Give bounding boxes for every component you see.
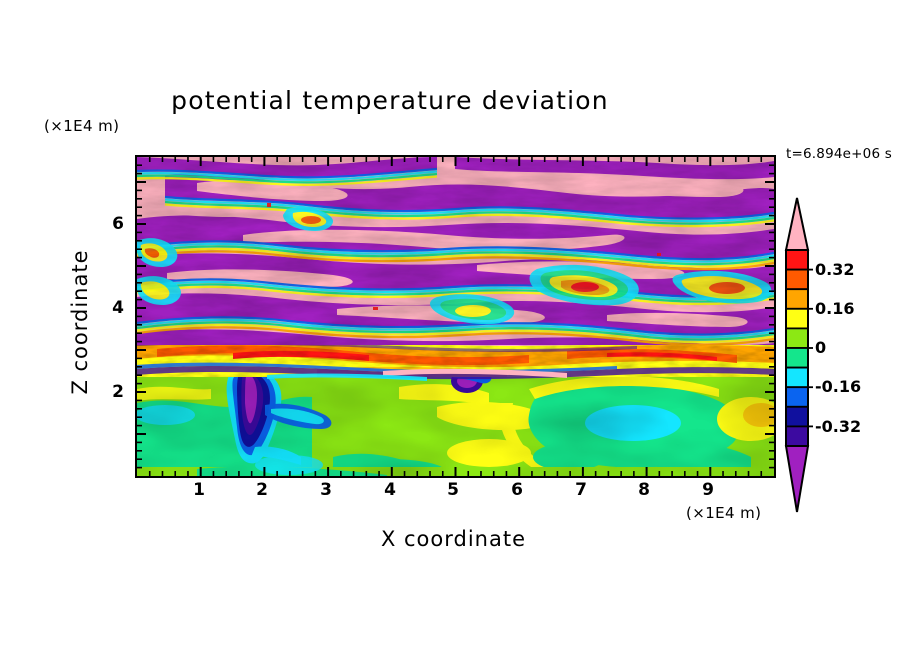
x-tick-label-6: 6: [497, 480, 537, 500]
colorbar-label-0: 0.32: [815, 260, 854, 279]
colorbar-label-2: 0: [815, 338, 826, 357]
x-tick-label-4: 4: [370, 480, 410, 500]
x-tick-label-1: 1: [179, 480, 219, 500]
x-tick-label-3: 3: [306, 480, 346, 500]
y-tick-label-2: 2: [90, 382, 124, 402]
x-tick-label-8: 8: [624, 480, 664, 500]
y-axis-title: Z coordinate: [68, 212, 92, 432]
colorbar-label-3: -0.16: [815, 377, 861, 396]
temperature-deviation-field: [137, 157, 774, 476]
colorbar-label-1: 0.16: [815, 299, 854, 318]
colorbar-label-4: -0.32: [815, 417, 861, 436]
colorbar-svg: [783, 190, 903, 530]
y-axis-unit-label: (×1E4 m): [44, 117, 119, 135]
colorbar-bands: [786, 250, 808, 446]
x-axis-title: X coordinate: [135, 527, 772, 551]
x-tick-label-5: 5: [433, 480, 473, 500]
page-title: potential temperature deviation: [0, 86, 780, 115]
y-tick-label-6: 6: [90, 214, 124, 234]
x-tick-label-2: 2: [242, 480, 282, 500]
colorbar-under-cap: [786, 446, 808, 512]
colorbar: 0.32 0.16 0 -0.16 -0.32: [783, 190, 903, 530]
time-stamp-label: t=6.894e+06 s: [786, 146, 892, 162]
y-tick-label-4: 4: [90, 298, 124, 318]
x-axis-unit-label: (×1E4 m): [686, 504, 761, 522]
x-tick-label-9: 9: [688, 480, 728, 500]
contour-plot-area: [135, 155, 776, 478]
x-tick-label-7: 7: [561, 480, 601, 500]
colorbar-over-cap: [786, 198, 808, 250]
